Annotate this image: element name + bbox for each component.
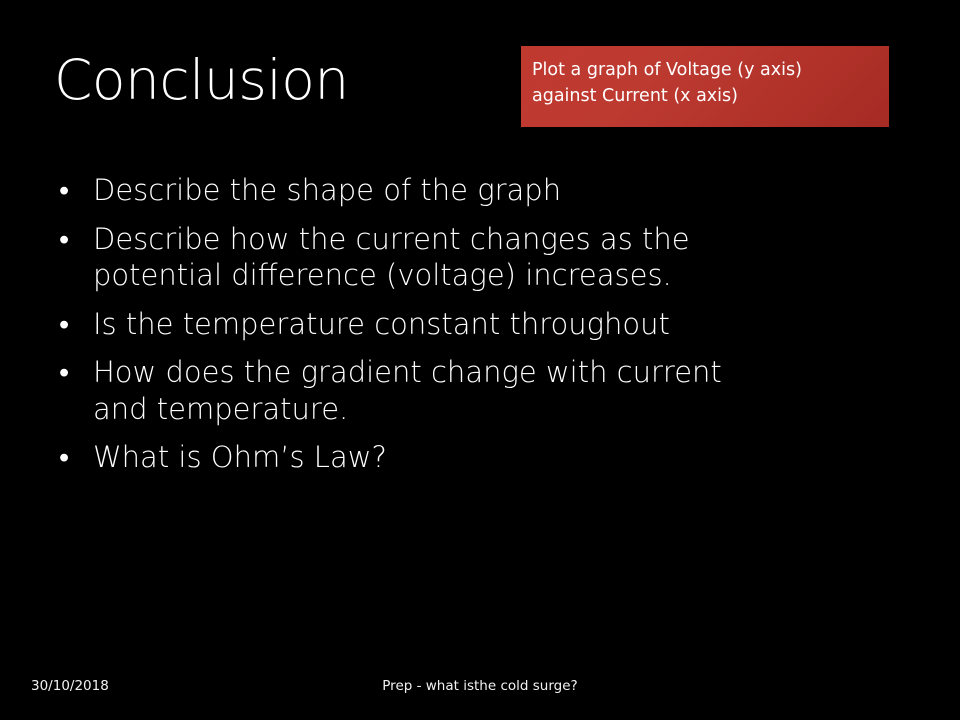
bullet-dot-icon: • (59, 306, 77, 343)
list-item-line: How does the gradient change with curren… (93, 354, 924, 391)
list-item-line: What is Ohm’s Law? (93, 439, 924, 476)
list-item-line: Describe how the current changes as the (93, 221, 924, 258)
list-item: • Is the temperature constant throughout (54, 306, 924, 343)
footer-note: Prep - what isthe cold surge? (0, 678, 960, 694)
bullet-dot-icon: • (59, 354, 77, 391)
list-item-line: Describe the shape of the graph (93, 172, 924, 209)
list-item-line: Is the temperature constant throughout (93, 306, 924, 343)
bullet-dot-icon: • (59, 172, 77, 209)
list-item: • Describe the shape of the graph (54, 172, 924, 209)
list-item: • Describe how the current changes as th… (54, 221, 924, 294)
list-item-line: and temperature. (93, 391, 924, 428)
callout-line-1: Plot a graph of Voltage (y axis) (532, 57, 879, 83)
slide-canvas: Conclusion Plot a graph of Voltage (y ax… (0, 0, 960, 720)
list-item-line: potential difference (voltage) increases… (93, 257, 924, 294)
page-title: Conclusion (54, 49, 494, 112)
callout-line-2: against Current (x axis) (532, 83, 879, 109)
callout-box: Plot a graph of Voltage (y axis) against… (521, 46, 889, 127)
list-item: • What is Ohm’s Law? (54, 439, 924, 476)
list-item: • How does the gradient change with curr… (54, 354, 924, 427)
bullet-list: • Describe the shape of the graph • Desc… (54, 172, 924, 476)
bullet-dot-icon: • (59, 439, 77, 476)
bullet-dot-icon: • (59, 221, 77, 258)
